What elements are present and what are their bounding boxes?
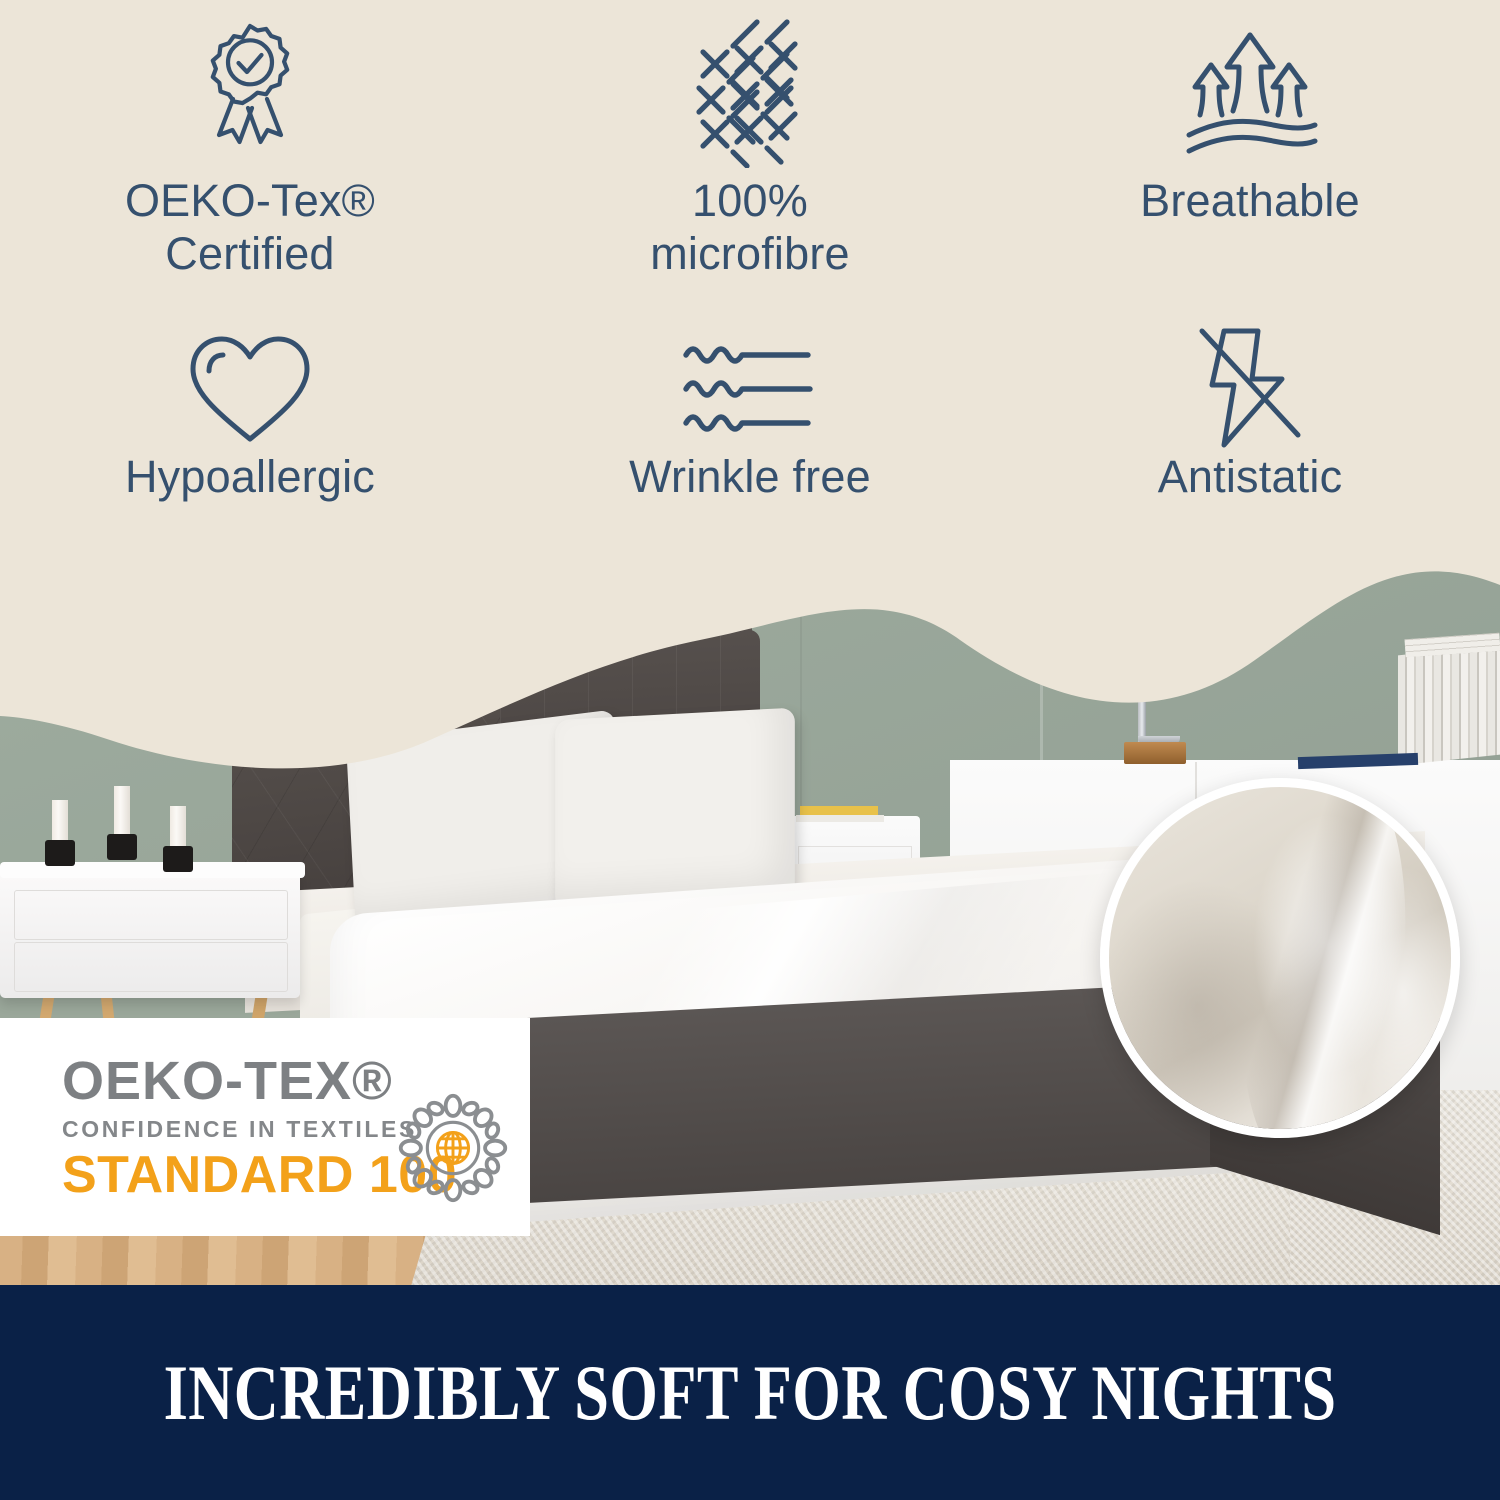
book-white bbox=[796, 815, 884, 822]
feature-grid: OEKO-Tex® Certified bbox=[0, 0, 1500, 620]
lightning-bolt-crossed-out-icon bbox=[1190, 328, 1310, 448]
feature-label: Antistatic bbox=[1158, 450, 1343, 503]
candle-holder-3 bbox=[163, 846, 193, 872]
candle-holder-2 bbox=[107, 834, 137, 860]
air-arrows-waves-icon bbox=[1175, 18, 1325, 168]
feature-label: Hypoallergic bbox=[125, 450, 375, 503]
feature-breathable: Breathable bbox=[1000, 0, 1500, 310]
oeko-tex-standard-100-label: OEKO-TEX® CONFIDENCE IN TEXTILES STANDAR… bbox=[0, 1018, 530, 1236]
feature-wrinkle-free: Wrinkle free bbox=[500, 310, 1000, 620]
candle-holder-1 bbox=[45, 840, 75, 866]
nightstand-left-drawer-top bbox=[14, 890, 288, 940]
feature-label: Wrinkle free bbox=[629, 450, 871, 503]
award-ribbon-check-icon bbox=[190, 18, 310, 168]
bottom-banner: INCREDIBLY SOFT FOR COSY NIGHTS bbox=[0, 1285, 1500, 1500]
heart-icon bbox=[185, 328, 315, 448]
feature-label: 100% microfibre bbox=[650, 174, 850, 280]
feature-hypoallergic: Hypoallergic bbox=[0, 310, 500, 620]
oeko-tex-loops-globe-icon bbox=[398, 1093, 508, 1203]
feature-100-microfibre: 100% microfibre bbox=[500, 0, 1000, 310]
book-yellow bbox=[800, 806, 878, 815]
fabric-closeup-circle bbox=[1100, 778, 1460, 1138]
nightstand-left-drawer-bottom bbox=[14, 942, 288, 992]
product-feature-graphic: OEKO-Tex® Certified bbox=[0, 0, 1500, 1500]
banner-headline: INCREDIBLY SOFT FOR COSY NIGHTS bbox=[164, 1354, 1337, 1432]
feature-label: OEKO-Tex® Certified bbox=[125, 174, 375, 280]
wavy-to-straight-lines-icon bbox=[680, 328, 820, 448]
feature-antistatic: Antistatic bbox=[1000, 310, 1500, 620]
feature-label: Breathable bbox=[1140, 174, 1360, 227]
feature-oeko-tex-certified: OEKO-Tex® Certified bbox=[0, 0, 500, 310]
woven-fabric-icon bbox=[675, 18, 825, 168]
